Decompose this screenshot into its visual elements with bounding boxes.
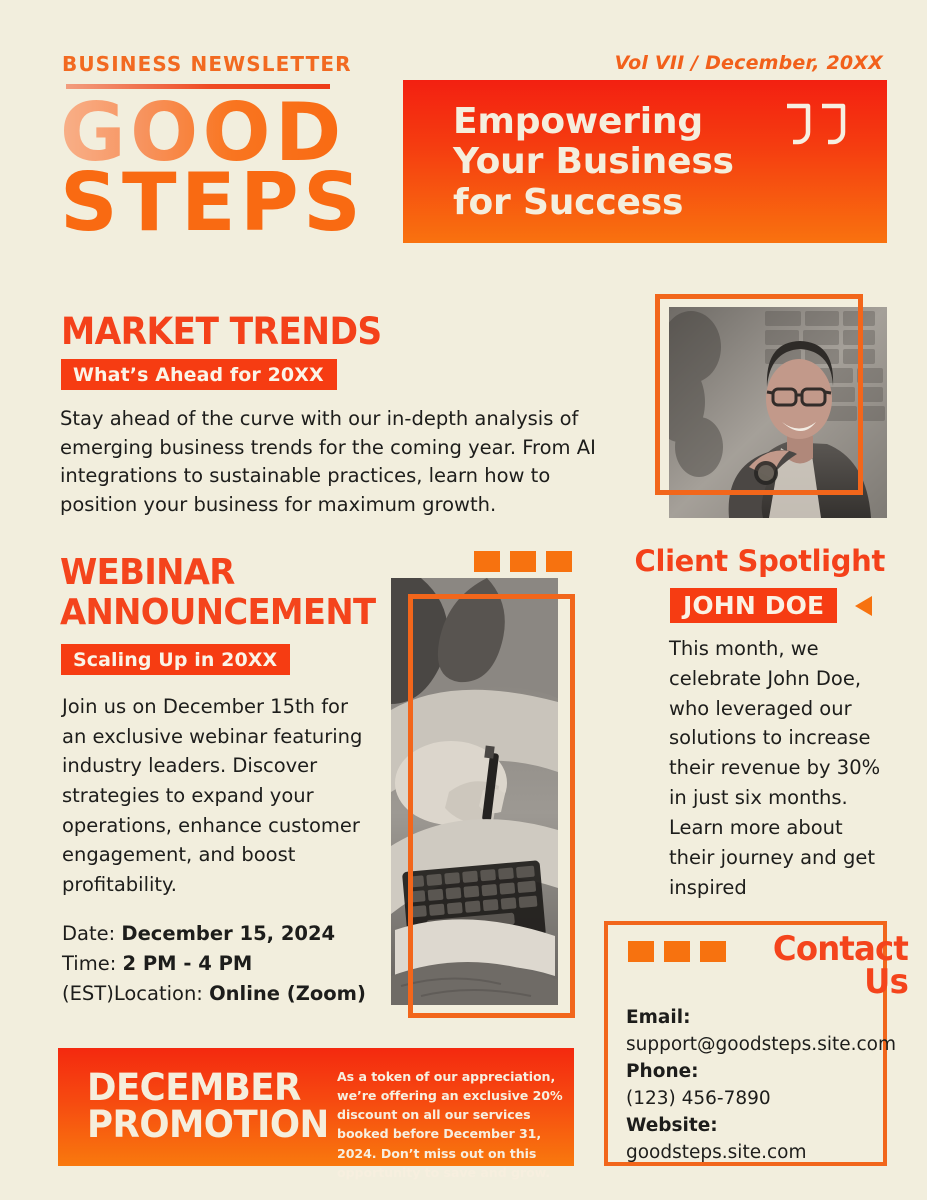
webinar-body: Join us on December 15th for an exclusiv… bbox=[62, 692, 372, 899]
square-accent bbox=[546, 551, 572, 572]
market-trends-heading: MARKET TRENDS bbox=[61, 310, 382, 353]
webinar-detail-time: Time: 2 PM - 4 PM bbox=[62, 949, 392, 979]
webinar-heading: WEBINAR ANNOUNCEMENT bbox=[60, 553, 375, 633]
webinar-square-accents bbox=[474, 551, 572, 572]
market-trends-tag: What’s Ahead for 20XX bbox=[61, 359, 337, 390]
webinar-details: Date: December 15, 2024 Time: 2 PM - 4 P… bbox=[62, 919, 392, 1008]
contact-title-line2: Us bbox=[718, 966, 908, 999]
webinar-location-label: (EST)Location: bbox=[62, 982, 209, 1005]
hero-title-line1: Empowering bbox=[453, 102, 734, 142]
newsletter-page: BUSINESS NEWSLETTER GOOD STEPS Vol VII /… bbox=[0, 0, 927, 1200]
webinar-time-label: Time: bbox=[62, 952, 123, 975]
webinar-image-frame bbox=[408, 594, 575, 1018]
promotion-text: As a token of our appreciation, we’re of… bbox=[337, 1067, 565, 1182]
client-spotlight-body: This month, we celebrate John Doe, who l… bbox=[669, 634, 887, 902]
promotion-title: DECEMBER PROMOTION bbox=[87, 1069, 329, 1143]
promotion-title-line2: PROMOTION bbox=[87, 1106, 329, 1143]
square-accent bbox=[628, 941, 654, 962]
contact-phone-label: Phone: bbox=[626, 1061, 699, 1082]
double-quote-icon bbox=[783, 102, 849, 146]
webinar-tag: Scaling Up in 20XX bbox=[61, 644, 290, 675]
hero-banner: Empowering Your Business for Success bbox=[403, 80, 887, 243]
webinar-date-value: December 15, 2024 bbox=[121, 922, 335, 945]
webinar-heading-line1: WEBINAR bbox=[60, 553, 375, 593]
triangle-left-icon bbox=[855, 596, 872, 616]
logo-steps: STEPS bbox=[60, 166, 365, 240]
webinar-heading-line2: ANNOUNCEMENT bbox=[60, 593, 375, 633]
webinar-date-label: Date: bbox=[62, 922, 121, 945]
hero-title-line3: for Success bbox=[453, 183, 734, 223]
contact-email-value[interactable]: support@goodsteps.site.com bbox=[626, 1031, 876, 1058]
hero-title: Empowering Your Business for Success bbox=[453, 102, 734, 223]
contact-website-label: Website: bbox=[626, 1115, 718, 1136]
client-portrait-photo bbox=[655, 294, 887, 518]
webinar-detail-date: Date: December 15, 2024 bbox=[62, 919, 392, 949]
promotion-title-line1: DECEMBER bbox=[87, 1069, 329, 1106]
masthead-kicker: BUSINESS NEWSLETTER bbox=[62, 52, 352, 76]
webinar-time-value: 2 PM - 4 PM bbox=[123, 952, 253, 975]
webinar-detail-location: (EST)Location: Online (Zoom) bbox=[62, 979, 392, 1009]
client-spotlight-name: JOHN DOE bbox=[670, 588, 837, 623]
contact-title: Contact Us bbox=[718, 933, 908, 998]
square-accent bbox=[664, 941, 690, 962]
client-spotlight-heading: Client Spotlight bbox=[635, 544, 885, 578]
contact-list: Email: support@goodsteps.site.com Phone:… bbox=[626, 1004, 876, 1166]
square-accent bbox=[474, 551, 500, 572]
webinar-location-value: Online (Zoom) bbox=[209, 982, 366, 1005]
market-trends-body: Stay ahead of the curve with our in-dept… bbox=[60, 405, 605, 520]
promotion-banner: DECEMBER PROMOTION As a token of our app… bbox=[58, 1048, 574, 1166]
contact-website-value[interactable]: goodsteps.site.com bbox=[626, 1139, 876, 1166]
contact-square-accents bbox=[628, 941, 726, 962]
contact-phone-value[interactable]: (123) 456-7890 bbox=[626, 1085, 876, 1112]
issue-label: Vol VII / December, 20XX bbox=[615, 52, 883, 74]
contact-email-label: Email: bbox=[626, 1007, 690, 1028]
hero-title-line2: Your Business bbox=[453, 142, 734, 182]
portrait-frame bbox=[655, 294, 863, 495]
square-accent bbox=[510, 551, 536, 572]
contact-title-line1: Contact bbox=[718, 933, 908, 966]
